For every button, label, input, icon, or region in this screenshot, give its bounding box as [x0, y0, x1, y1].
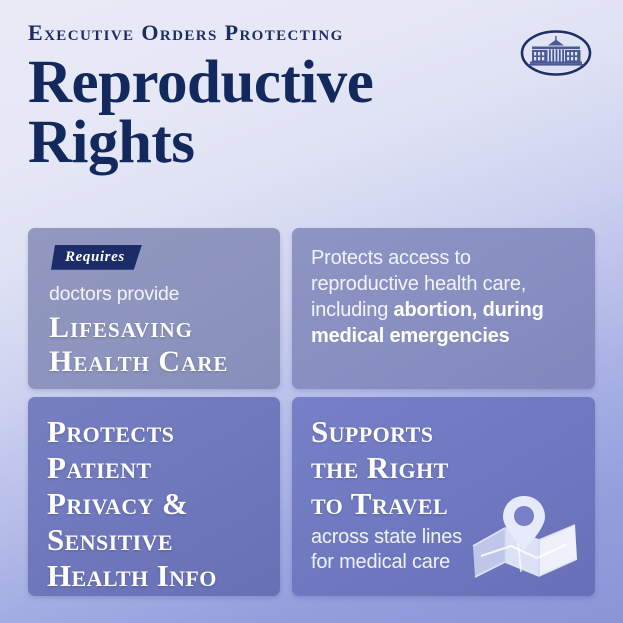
- card-headline-line-2: Patient: [47, 450, 261, 486]
- poster-header: Executive Orders Protecting Reproductive…: [28, 22, 595, 192]
- card-body-emphasis-2: medical emergencies: [311, 325, 510, 347]
- card-subtext-line-1: across state lines: [311, 525, 576, 551]
- card-body-line-3: including abortion, during: [311, 297, 576, 323]
- card-headline-line-1: Supports: [311, 414, 576, 450]
- card-body-emphasis-1: abortion, during: [394, 299, 544, 321]
- card-requires-lifesaving-health-care: Requires doctors provide Lifesaving Heal…: [28, 228, 280, 389]
- card-body-text: Protects access to reproductive health c…: [311, 245, 576, 349]
- card-headline-line-3: to Travel: [311, 486, 576, 522]
- card-headline: Protects Patient Privacy & Sensitive Hea…: [47, 414, 261, 594]
- card-protects-patient-privacy: Protects Patient Privacy & Sensitive Hea…: [28, 397, 280, 596]
- card-protects-access-emergencies: Protects access to reproductive health c…: [292, 228, 595, 389]
- card-body-line-2: reproductive health care,: [311, 271, 576, 297]
- page-title: Reproductive Rights: [28, 53, 595, 173]
- card-headline-line-2: Health Care: [49, 345, 261, 379]
- card-subtext-line-2: for medical care: [311, 550, 576, 576]
- requires-badge: Requires: [51, 245, 142, 270]
- card-headline-line-5: Health Info: [47, 558, 261, 594]
- page-title-line-2: Rights: [28, 113, 595, 173]
- card-headline-line-1: Protects: [47, 414, 261, 450]
- card-lead-text: doctors provide: [49, 282, 261, 307]
- card-subtext: across state lines for medical care: [311, 525, 576, 576]
- card-grid: Requires doctors provide Lifesaving Heal…: [28, 228, 595, 596]
- card-headline-line-2: the Right: [311, 450, 576, 486]
- card-headline-line-1: Lifesaving: [49, 311, 261, 345]
- header-eyebrow: Executive Orders Protecting: [28, 22, 595, 44]
- white-house-seal-icon: [517, 28, 595, 78]
- card-body-prefix: including: [311, 299, 394, 321]
- card-headline: Lifesaving Health Care: [49, 311, 261, 379]
- infographic-poster: Executive Orders Protecting Reproductive…: [0, 0, 623, 623]
- card-body-line-4: medical emergencies: [311, 323, 576, 349]
- card-supports-right-to-travel: Supports the Right to Travel across stat…: [292, 397, 595, 596]
- card-headline-line-4: Sensitive: [47, 522, 261, 558]
- card-headline-line-3: Privacy &: [47, 486, 261, 522]
- card-headline: Supports the Right to Travel: [311, 414, 576, 522]
- card-body-line-1: Protects access to: [311, 245, 576, 271]
- page-title-line-1: Reproductive: [28, 53, 595, 113]
